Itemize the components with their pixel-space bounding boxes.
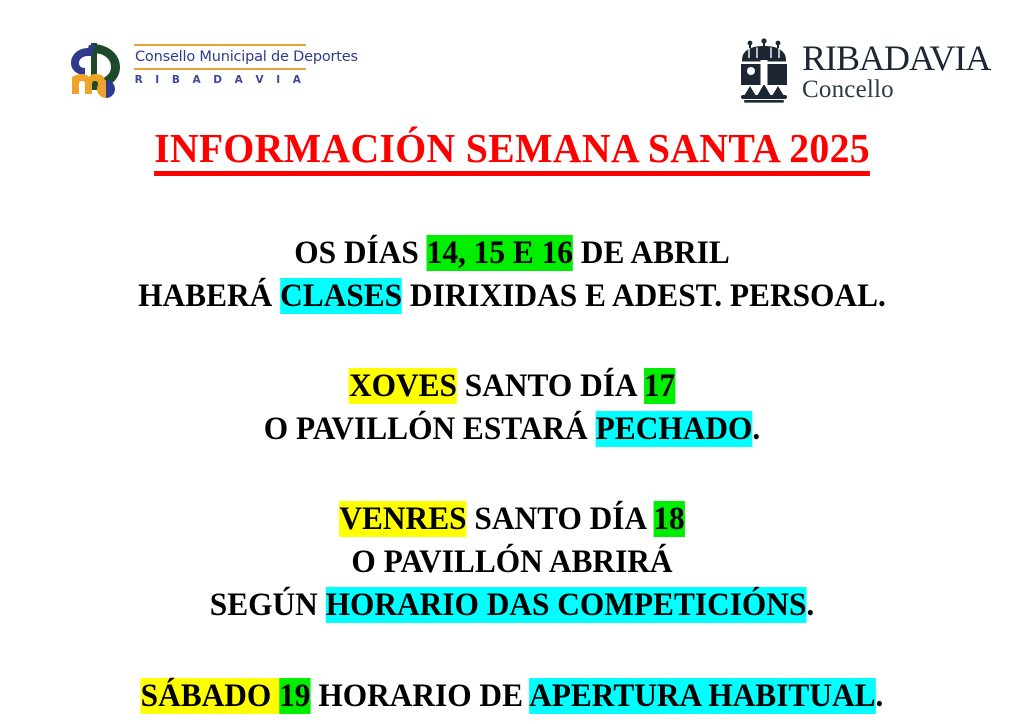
spacer-3 xyxy=(0,451,1024,498)
highlighted-text-cyan: CLASES xyxy=(280,278,402,314)
text-block-sabado-19: SÁBADO 19 HORARIO DE APERTURA HABITUAL. xyxy=(0,675,1024,718)
plain-text: OS DÍAS xyxy=(294,235,426,271)
plain-text: DE ABRIL xyxy=(573,235,730,271)
poster-title-wrap: INFORMACIÓN SEMANA SANTA 2025 xyxy=(0,126,1024,176)
plain-text: SANTO DÍA xyxy=(457,368,644,404)
plain-text: . xyxy=(876,678,884,714)
cmd-wordmark: Consello Municipal de Deportes R I B A D… xyxy=(134,36,358,86)
poster-line: XOVES SANTO DÍA 17 xyxy=(26,365,999,408)
poster-line: OS DÍAS 14, 15 E 16 DE ABRIL xyxy=(26,232,999,275)
plain-text: HORARIO DE xyxy=(310,678,529,714)
poster-line: HABERÁ CLASES DIRIXIDAS E ADEST. PERSOAL… xyxy=(26,275,999,318)
poster-header: Consello Municipal de Deportes R I B A D… xyxy=(0,0,1024,120)
poster-body: INFORMACIÓN SEMANA SANTA 2025 OS DÍAS 14… xyxy=(0,126,1024,718)
highlighted-text-green: 18 xyxy=(653,501,684,537)
cmd-city-text: R I B A D A V I A xyxy=(134,70,306,86)
concello-subtitle: Concello xyxy=(802,76,990,103)
cmd-logo: Consello Municipal de Deportes R I B A D… xyxy=(62,36,358,102)
poster-line: O PAVILLÓN ABRIRÁ xyxy=(26,541,999,584)
page-title: INFORMACIÓN SEMANA SANTA 2025 xyxy=(154,126,870,176)
highlighted-text-green: 14, 15 E 16 xyxy=(427,235,573,271)
cmd-name-text: Consello Municipal de Deportes xyxy=(134,46,358,68)
highlighted-text-green: 19 xyxy=(279,678,310,714)
highlighted-text-cyan: PECHADO xyxy=(596,411,753,447)
plain-text: HABERÁ xyxy=(138,278,280,314)
plain-text: . xyxy=(806,587,814,623)
text-block-dias-14-16: OS DÍAS 14, 15 E 16 DE ABRILHABERÁ CLASE… xyxy=(0,232,1024,318)
concello-title: RIBADAVIA xyxy=(802,40,990,76)
poster-line: SÁBADO 19 HORARIO DE APERTURA HABITUAL. xyxy=(26,675,999,718)
poster-line: SEGÚN HORARIO DAS COMPETICIÓNS. xyxy=(26,584,999,627)
spacer-1 xyxy=(0,176,1024,232)
concello-logo: RIBADAVIA Concello xyxy=(736,38,990,104)
text-block-venres-18: VENRES SANTO DÍA 18O PAVILLÓN ABRIRÁSEGÚ… xyxy=(0,498,1024,627)
text-block-xoves-17: XOVES SANTO DÍA 17O PAVILLÓN ESTARÁ PECH… xyxy=(0,365,1024,451)
highlighted-text-cyan: HORARIO DAS COMPETICIÓNS xyxy=(326,587,807,623)
spacer-2 xyxy=(0,318,1024,365)
poster-line: VENRES SANTO DÍA 18 xyxy=(26,498,999,541)
plain-text: O PAVILLÓN ESTARÁ xyxy=(264,411,596,447)
concello-wordmark: RIBADAVIA Concello xyxy=(802,38,990,103)
plain-text: O PAVILLÓN ABRIRÁ xyxy=(351,544,672,580)
plain-text: SANTO DÍA xyxy=(467,501,654,537)
poster-line: O PAVILLÓN ESTARÁ PECHADO. xyxy=(26,408,999,451)
highlighted-text-yellow: SÁBADO xyxy=(141,678,279,714)
highlighted-text-green: 17 xyxy=(644,368,675,404)
plain-text: SEGÚN xyxy=(210,587,326,623)
plain-text: DIRIXIDAS E ADEST. PERSOAL. xyxy=(402,278,886,314)
ribadavia-castle-emblem-icon xyxy=(736,38,792,104)
cmd-monogram-icon xyxy=(62,36,128,102)
highlighted-text-yellow: XOVES xyxy=(349,368,457,404)
plain-text: . xyxy=(752,411,760,447)
highlighted-text-cyan: APERTURA HABITUAL xyxy=(529,678,875,714)
highlighted-text-yellow: VENRES xyxy=(339,501,466,537)
spacer-4 xyxy=(0,627,1024,675)
